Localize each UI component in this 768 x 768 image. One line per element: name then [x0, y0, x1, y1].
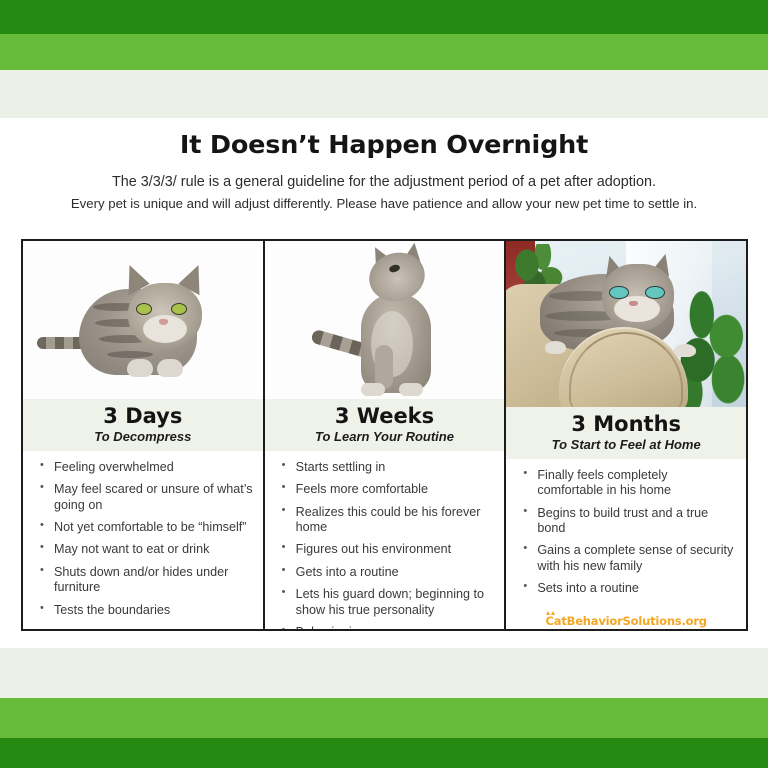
column-3-weeks: 3 Weeks To Learn Your Routine Starts set…	[263, 241, 505, 629]
stage-subtitle: To Learn Your Routine	[265, 429, 505, 444]
stage-title: 3 Months	[506, 413, 746, 435]
bullet-list-3-days: Feeling overwhelmed May feel scared or u…	[23, 451, 263, 629]
list-item: Realizes this could be his forever home	[279, 505, 495, 536]
list-item: Not yet comfortable to be “himself”	[37, 520, 253, 535]
list-item: Tests the boundaries	[37, 603, 253, 618]
brand-text: atBehaviorSolutions.org	[554, 614, 707, 628]
bullet-list-3-weeks: Starts settling in Feels more comfortabl…	[265, 451, 505, 629]
list-item: Gains a complete sense of security with …	[520, 543, 736, 574]
stage-header-3-days: 3 Days To Decompress	[23, 399, 263, 451]
stage-header-3-months: 3 Months To Start to Feel at Home	[506, 407, 746, 459]
stage-title: 3 Days	[23, 405, 263, 427]
bottom-dark-green-band	[0, 738, 768, 768]
list-item: May not want to eat or drink	[37, 542, 253, 557]
list-item: Behavior issues may appear	[279, 625, 495, 629]
brand-lead-letter: C	[546, 614, 554, 628]
list-item: Feeling overwhelmed	[37, 460, 253, 475]
top-dark-green-band	[0, 0, 768, 34]
stage-subtitle: To Start to Feel at Home	[506, 437, 746, 452]
photo-cat-crouching	[23, 241, 263, 399]
brand-logo-cat-behavior-solutions[interactable]: CatBehaviorSolutions.org	[506, 610, 746, 629]
subtitle-line-1: The 3/3/3/ rule is a general guideline f…	[34, 173, 734, 192]
list-item: Sets into a routine	[520, 581, 736, 596]
list-item: Shuts down and/or hides under furniture	[37, 565, 253, 596]
stage-subtitle: To Decompress	[23, 429, 263, 444]
list-item: Figures out his environment	[279, 542, 495, 557]
stage-header-3-weeks: 3 Weeks To Learn Your Routine	[265, 399, 505, 451]
heading-block: It Doesn’t Happen Overnight The 3/3/3/ r…	[0, 130, 768, 212]
page-title: It Doesn’t Happen Overnight	[0, 130, 768, 159]
photo-cat-on-armchair	[506, 241, 746, 407]
photo-cat-sitting	[265, 241, 505, 399]
top-mid-green-band	[0, 34, 768, 70]
list-item: Begins to build trust and a true bond	[520, 506, 736, 537]
subtitle-line-2: Every pet is unique and will adjust diff…	[24, 195, 744, 212]
bottom-mid-green-band	[0, 698, 768, 738]
cat-ear-c-icon: C	[546, 614, 554, 628]
column-3-days: 3 Days To Decompress Feeling overwhelmed…	[23, 241, 263, 629]
bullet-list-3-months: Finally feels completely comfortable in …	[506, 459, 746, 610]
list-item: Lets his guard down; beginning to show h…	[279, 587, 495, 618]
three-stage-card: 3 Days To Decompress Feeling overwhelmed…	[21, 239, 748, 631]
column-3-months: 3 Months To Start to Feel at Home Finall…	[504, 241, 746, 629]
stage-title: 3 Weeks	[265, 405, 505, 427]
list-item: Feels more comfortable	[279, 482, 495, 497]
list-item: May feel scared or unsure of what’s goin…	[37, 482, 253, 513]
list-item: Gets into a routine	[279, 565, 495, 580]
bottom-pale-green-band	[0, 648, 768, 698]
list-item: Finally feels completely comfortable in …	[520, 468, 736, 499]
list-item: Starts settling in	[279, 460, 495, 475]
top-pale-green-band	[0, 70, 768, 118]
